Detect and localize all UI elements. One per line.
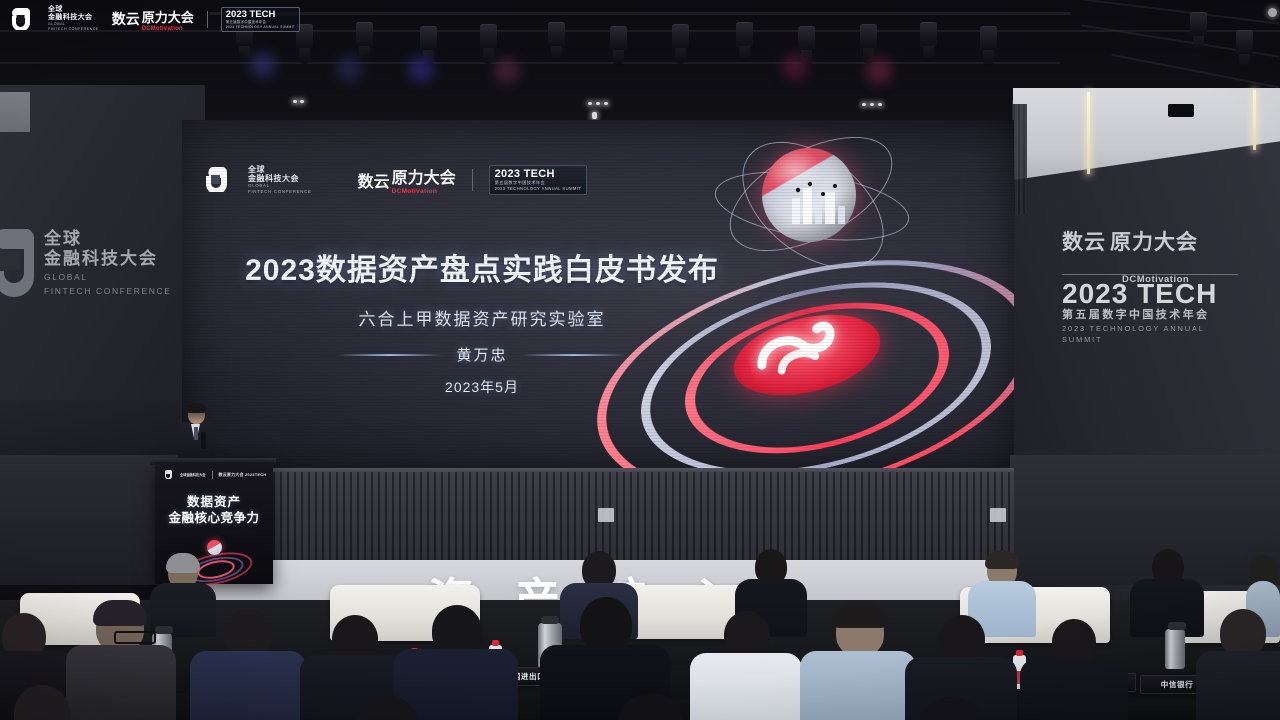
audience-area: 中国进出口银行 中信银行 中信银行 — [0, 545, 1280, 720]
audience-member — [0, 685, 90, 720]
podium-headline-line1: 数据资产 — [155, 494, 273, 510]
nameplate-label: 中信银行 — [1161, 679, 1193, 690]
overlay-badge-sub2: 2023 TECHNOLOGY ANNUAL SUMMIT — [226, 25, 296, 30]
podium-headline: 数据资产 金融核心竞争力 — [155, 494, 273, 527]
accent-light-strip — [1253, 90, 1256, 150]
right-logo-divider — [1062, 274, 1238, 275]
podium-logo-divider — [212, 471, 213, 479]
overlay-year-badge: 2023 TECH 第五届数字中国技术年会 2023 TECHNOLOGY AN… — [221, 7, 301, 32]
overlay-gfc-logo: 全球 金融科技大会 GLOBAL FINTECH CONFERENCE — [48, 6, 99, 32]
right-logo-event: 原力大会 — [1110, 232, 1198, 254]
audience-member — [600, 693, 710, 720]
wall-fixture — [1168, 104, 1194, 117]
overlay-gfc-cn2: 金融科技大会 — [48, 14, 99, 22]
overlay-divider — [207, 11, 208, 28]
accent-light-strip — [1087, 92, 1090, 174]
right-logo-sub-cn: 第五届数字中国技术年会 — [1062, 308, 1238, 323]
overlay-dc-event: 原力大会 — [142, 7, 194, 26]
wall-vent — [1013, 104, 1027, 214]
screen-scanlines — [182, 120, 1014, 475]
audience-member — [1130, 549, 1204, 635]
audience-member — [338, 695, 448, 720]
speaker-hair — [187, 403, 206, 413]
main-presentation-screen: 全球 金融科技大会 GLOBAL FINTECH CONFERENCE 数云 原… — [182, 120, 1014, 475]
fintech-mark-icon — [165, 470, 174, 479]
fintech-mark-icon — [0, 229, 48, 309]
left-wall-logo-en2: FINTECH CONFERENCE — [44, 285, 172, 297]
right-logo-en-brand: DCMotivation — [1122, 274, 1189, 285]
speaker-person — [176, 404, 216, 466]
conference-photo: 全球 金融科技大会 GLOBAL FINTECH CONFERENCE 数云 原… — [0, 0, 1280, 720]
audience-member — [1196, 609, 1280, 720]
audience-member — [190, 609, 306, 720]
left-wall-logo-en1: GLOBAL — [44, 271, 172, 283]
audience-member — [800, 607, 916, 720]
broadcast-logo-overlay: 全球 金融科技大会 GLOBAL FINTECH CONFERENCE 数云 原… — [12, 6, 300, 32]
speaker-tie — [194, 427, 198, 440]
left-wall-logo-cn2: 金融科技大会 — [44, 249, 172, 269]
left-wall-logo: 全球 金融科技大会 GLOBAL FINTECH CONFERENCE — [8, 225, 178, 317]
overlay-dc-brand: 数云 — [112, 9, 140, 29]
microphone-icon — [201, 432, 206, 449]
thermos — [1165, 629, 1185, 669]
audience-member — [900, 697, 1020, 720]
podium-headline-line2: 金融核心竞争力 — [155, 510, 273, 527]
stage-access-plate — [990, 508, 1006, 522]
thermos-cap — [1168, 622, 1186, 630]
overlay-gfc-en2: FINTECH CONFERENCE — [48, 27, 99, 32]
stage-access-plate — [598, 508, 614, 522]
overlay-dc-en: DCMotivation — [142, 26, 194, 32]
audience-member — [1020, 619, 1128, 720]
podium-logo-right: 数云原力大会 2023TECH — [219, 472, 267, 477]
right-logo-sub-en: 2023 TECHNOLOGY ANNUAL SUMMIT — [1062, 323, 1238, 345]
eyeglasses-icon — [114, 631, 156, 644]
fintech-mark-icon — [12, 8, 35, 30]
overlay-gfc-cn1: 全球 — [48, 6, 99, 14]
left-upper-panel — [0, 92, 30, 132]
podium-logo-row: 全球金融科技大会 数云原力大会 2023TECH — [165, 470, 266, 479]
right-wall-logo: 数云 原力大会 DCMotivation 2023 TECH 第五届数字中国技术… — [1062, 232, 1238, 340]
right-logo-brand: 数云 — [1062, 232, 1106, 254]
left-wall-logo-cn1: 全球 — [44, 229, 172, 249]
podium-logo-left: 全球金融科技大会 — [180, 473, 206, 477]
overlay-badge-year: 2023 TECH — [226, 9, 296, 20]
